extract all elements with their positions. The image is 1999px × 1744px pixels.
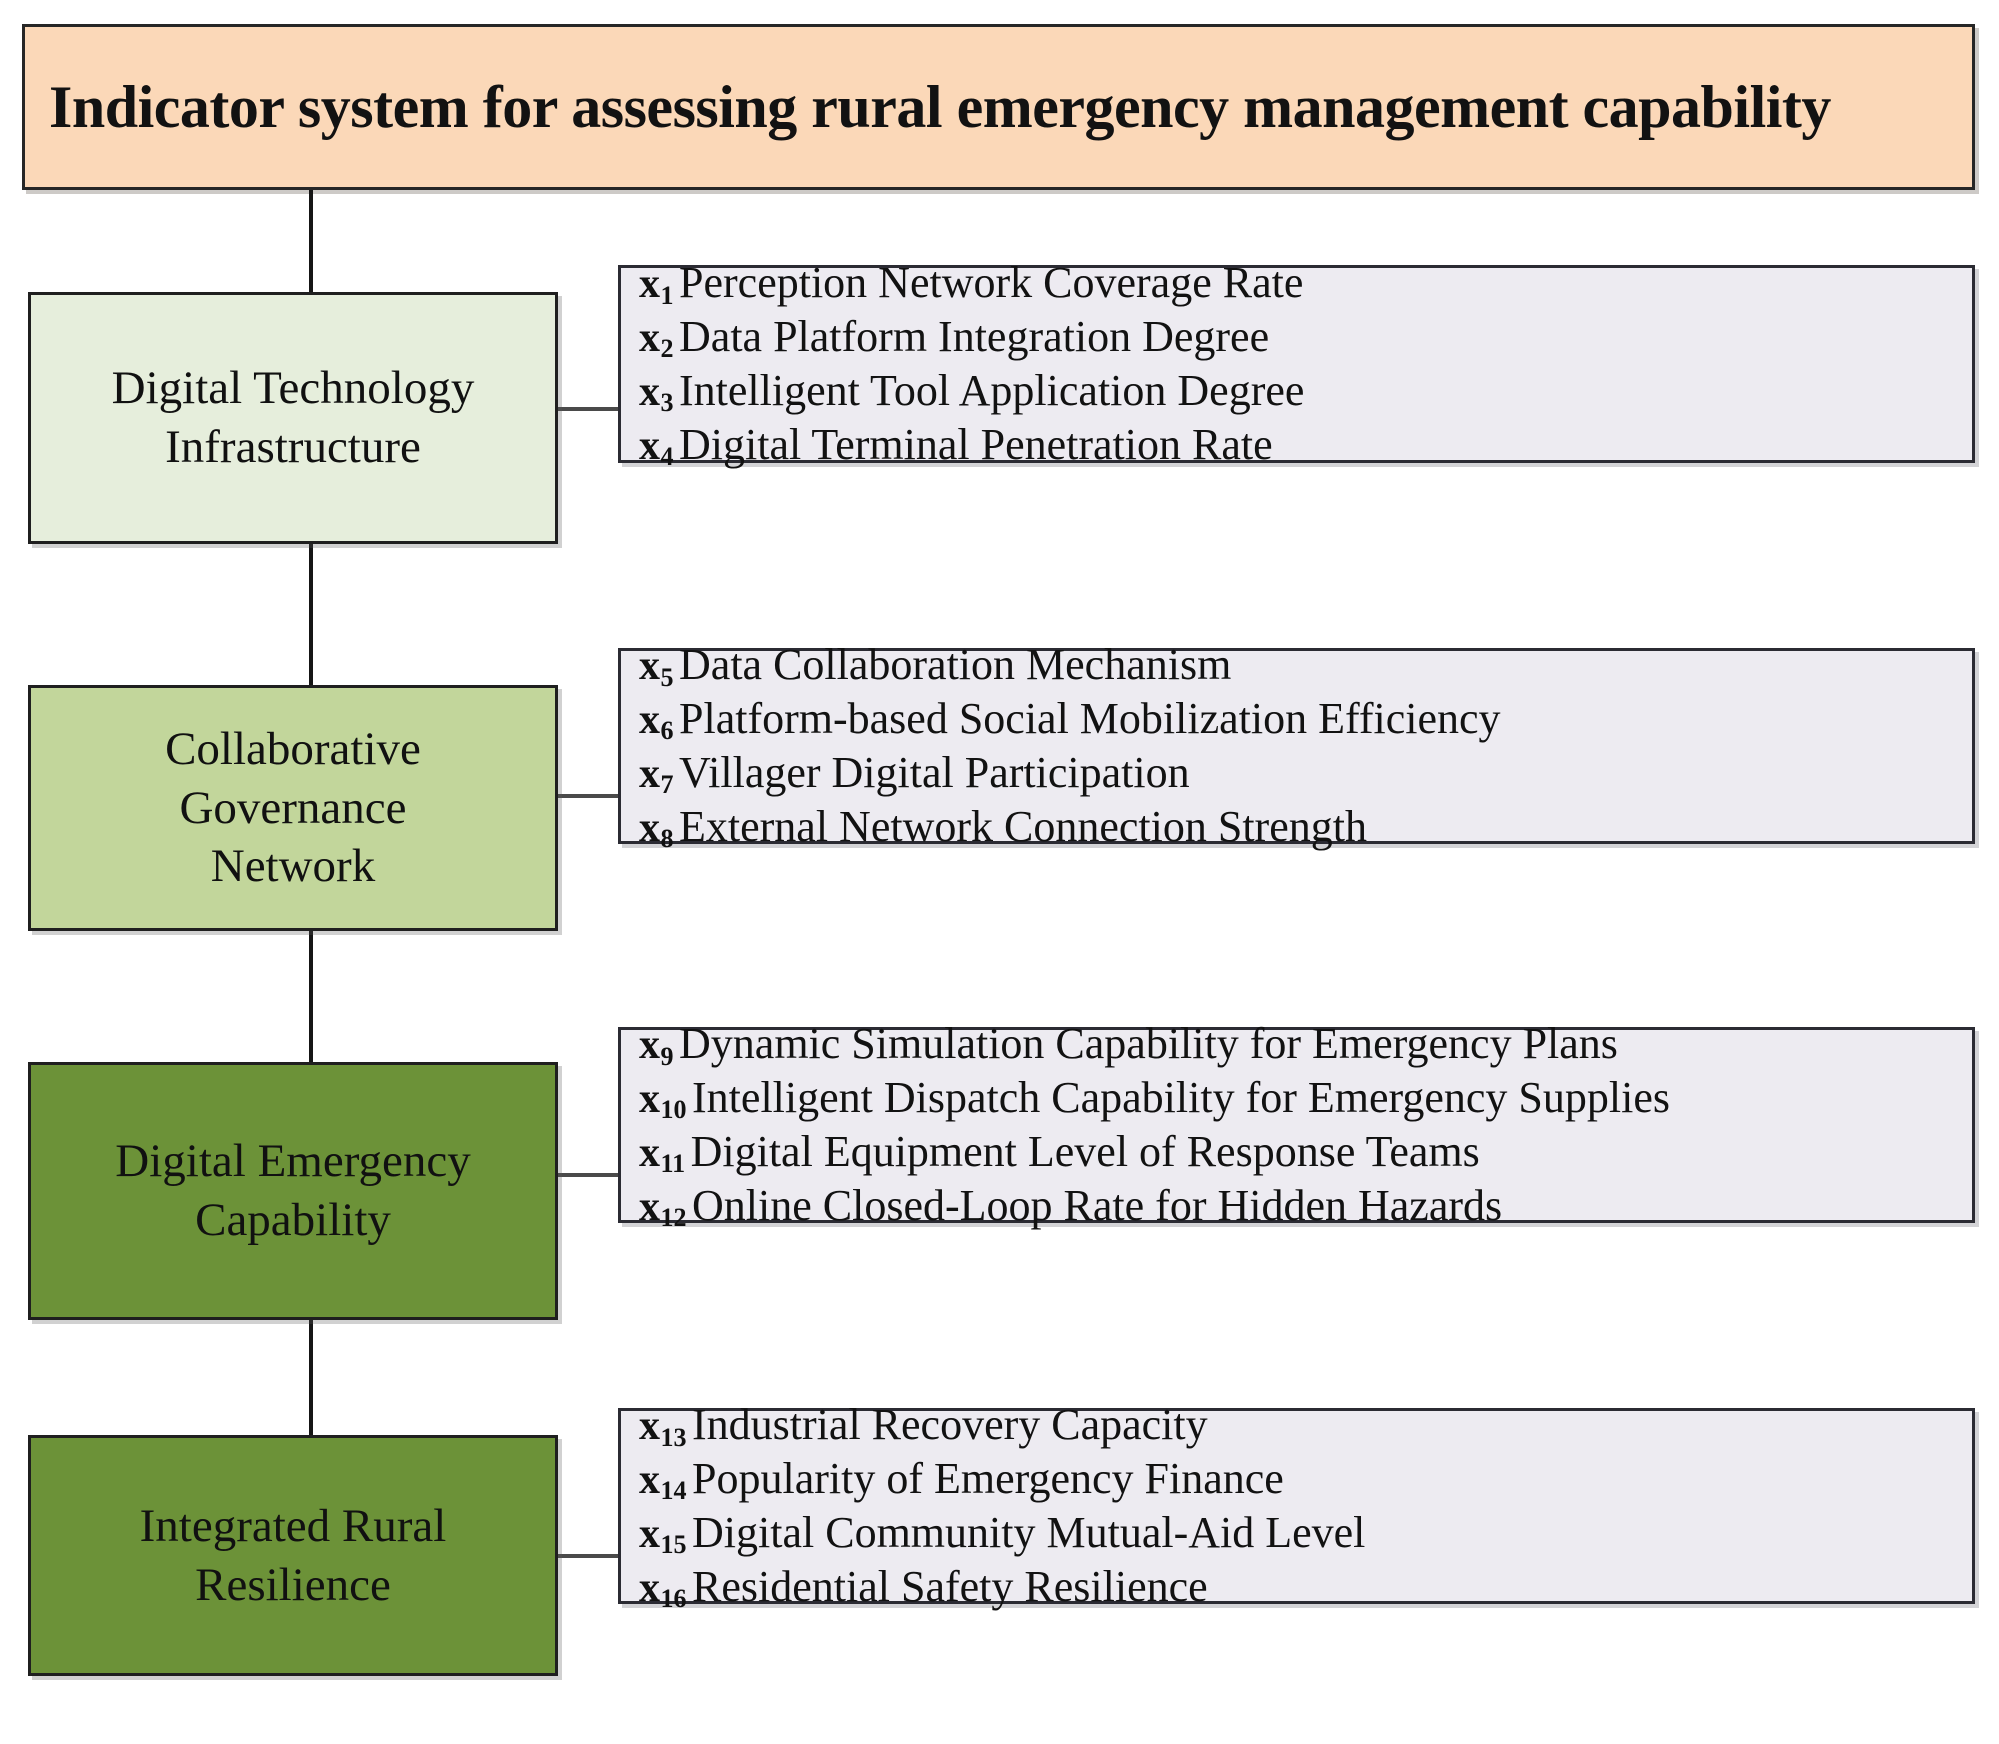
category-box-digital-technology-infrastructure[interactable]: Digital Technology Infrastructure	[28, 292, 558, 544]
indicator-row: x8 External Network Connection Strength	[639, 800, 1972, 854]
connector-category-1-to-2	[309, 543, 313, 687]
connector-category-3-to-4	[309, 1319, 313, 1437]
indicator-label: Digital Equipment Level of Response Team…	[691, 1125, 1480, 1178]
indicator-row: x11 Digital Equipment Level of Response …	[639, 1125, 1972, 1179]
indicator-label: Intelligent Tool Application Degree	[679, 364, 1304, 417]
indicator-list-digital-technology-infrastructure: x1 Perception Network Coverage Rate x2 D…	[618, 265, 1975, 463]
indicator-label: External Network Connection Strength	[679, 800, 1367, 853]
indicator-key: x15	[639, 1509, 686, 1560]
connector-title-to-category-1	[309, 190, 313, 294]
indicator-list-integrated-rural-resilience: x13 Industrial Recovery Capacity x14 Pop…	[618, 1408, 1975, 1604]
indicator-key: x11	[639, 1128, 685, 1179]
connector-category-3-to-list-3	[557, 1173, 619, 1177]
indicator-label: Intelligent Dispatch Capability for Emer…	[692, 1071, 1670, 1124]
category-label: Digital Technology Infrastructure	[112, 359, 475, 477]
indicator-label: Platform-based Social Mobilization Effic…	[679, 692, 1501, 745]
indicator-key: x10	[639, 1074, 686, 1125]
connector-category-4-to-list-4	[557, 1554, 619, 1558]
connector-category-1-to-list-1	[557, 407, 619, 411]
indicator-label: Residential Safety Resilience	[692, 1560, 1208, 1613]
indicator-label: Villager Digital Participation	[679, 746, 1190, 799]
indicator-row: x2 Data Platform Integration Degree	[639, 310, 1972, 364]
indicator-label: Online Closed-Loop Rate for Hidden Hazar…	[692, 1179, 1502, 1232]
indicator-label: Data Platform Integration Degree	[679, 310, 1269, 363]
indicator-row: x4 Digital Terminal Penetration Rate	[639, 418, 1972, 472]
indicator-row: x13 Industrial Recovery Capacity	[639, 1398, 1972, 1452]
indicator-key: x16	[639, 1563, 686, 1614]
indicator-key: x12	[639, 1182, 686, 1233]
indicator-list-digital-emergency-capability: x9 Dynamic Simulation Capability for Eme…	[618, 1027, 1975, 1223]
diagram-title-text: Indicator system for assessing rural eme…	[49, 73, 1831, 142]
connector-category-2-to-list-2	[557, 794, 619, 798]
category-box-integrated-rural-resilience[interactable]: Integrated Rural Resilience	[28, 1435, 558, 1676]
indicator-key: x14	[639, 1455, 686, 1506]
category-label: Integrated Rural Resilience	[140, 1497, 447, 1615]
indicator-row: x16 Residential Safety Resilience	[639, 1560, 1972, 1614]
indicator-system-diagram: Indicator system for assessing rural eme…	[0, 0, 1999, 1744]
indicator-row: x5 Data Collaboration Mechanism	[639, 638, 1972, 692]
indicator-key: x4	[639, 421, 673, 472]
category-label: Collaborative Governance Network	[165, 720, 421, 896]
connector-category-2-to-3	[309, 930, 313, 1064]
indicator-key: x13	[639, 1401, 686, 1452]
indicator-label: Data Collaboration Mechanism	[679, 638, 1231, 691]
indicator-row: x1 Perception Network Coverage Rate	[639, 256, 1972, 310]
indicator-label: Perception Network Coverage Rate	[679, 256, 1303, 309]
indicator-key: x6	[639, 695, 673, 746]
category-box-collaborative-governance-network[interactable]: Collaborative Governance Network	[28, 685, 558, 931]
indicator-row: x12 Online Closed-Loop Rate for Hidden H…	[639, 1179, 1972, 1233]
indicator-key: x5	[639, 641, 673, 692]
indicator-label: Dynamic Simulation Capability for Emerge…	[679, 1017, 1618, 1070]
indicator-row: x14 Popularity of Emergency Finance	[639, 1452, 1972, 1506]
indicator-key: x3	[639, 367, 673, 418]
category-box-digital-emergency-capability[interactable]: Digital Emergency Capability	[28, 1062, 558, 1320]
indicator-row: x7 Villager Digital Participation	[639, 746, 1972, 800]
indicator-row: x6 Platform-based Social Mobilization Ef…	[639, 692, 1972, 746]
indicator-key: x1	[639, 259, 673, 310]
indicator-label: Popularity of Emergency Finance	[692, 1452, 1284, 1505]
indicator-key: x2	[639, 313, 673, 364]
indicator-row: x10 Intelligent Dispatch Capability for …	[639, 1071, 1972, 1125]
diagram-title-box: Indicator system for assessing rural eme…	[22, 24, 1975, 190]
indicator-row: x15 Digital Community Mutual-Aid Level	[639, 1506, 1972, 1560]
indicator-label: Digital Community Mutual-Aid Level	[692, 1506, 1365, 1559]
category-label: Digital Emergency Capability	[115, 1132, 470, 1250]
indicator-row: x9 Dynamic Simulation Capability for Eme…	[639, 1017, 1972, 1071]
indicator-key: x7	[639, 749, 673, 800]
indicator-key: x9	[639, 1020, 673, 1071]
indicator-row: x3 Intelligent Tool Application Degree	[639, 364, 1972, 418]
indicator-list-collaborative-governance-network: x5 Data Collaboration Mechanism x6 Platf…	[618, 648, 1975, 844]
indicator-key: x8	[639, 803, 673, 854]
indicator-label: Digital Terminal Penetration Rate	[679, 418, 1273, 471]
indicator-label: Industrial Recovery Capacity	[692, 1398, 1208, 1451]
